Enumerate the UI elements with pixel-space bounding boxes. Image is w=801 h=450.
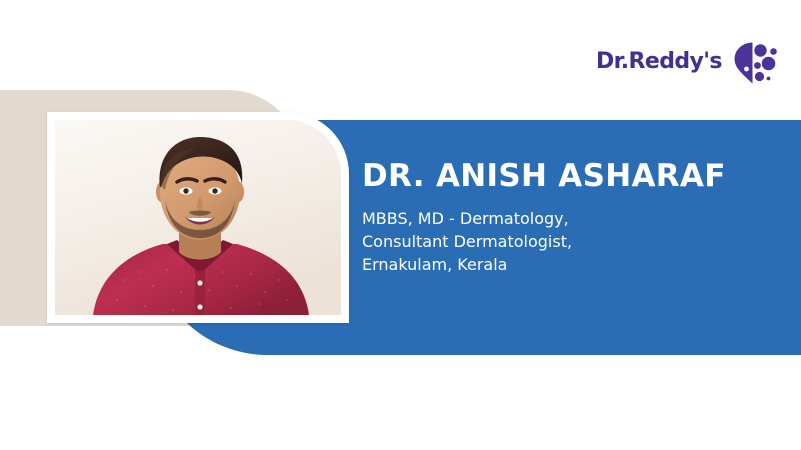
dr-reddys-droplet-bubbles-mark <box>730 38 780 86</box>
speaker-name: DR. ANISH ASHARAF <box>362 160 782 193</box>
speaker-text-block: DR. ANISH ASHARAF MBBS, MD - Dermatology… <box>362 160 782 276</box>
brand-logo: Dr.Reddy's <box>596 36 756 88</box>
speaker-credential-line-1: MBBS, MD - Dermatology, <box>362 207 782 230</box>
speaker-portrait-illustration <box>55 120 341 315</box>
brand-wordmark: Dr.Reddy's <box>596 51 722 73</box>
slide-canvas: DR. ANISH ASHARAF MBBS, MD - Dermatology… <box>0 0 801 450</box>
speaker-credential-line-3: Ernakulam, Kerala <box>362 253 782 276</box>
speaker-credential-line-2: Consultant Dermatologist, <box>362 230 782 253</box>
speaker-photo-card <box>47 112 349 323</box>
speaker-photo <box>55 120 341 315</box>
